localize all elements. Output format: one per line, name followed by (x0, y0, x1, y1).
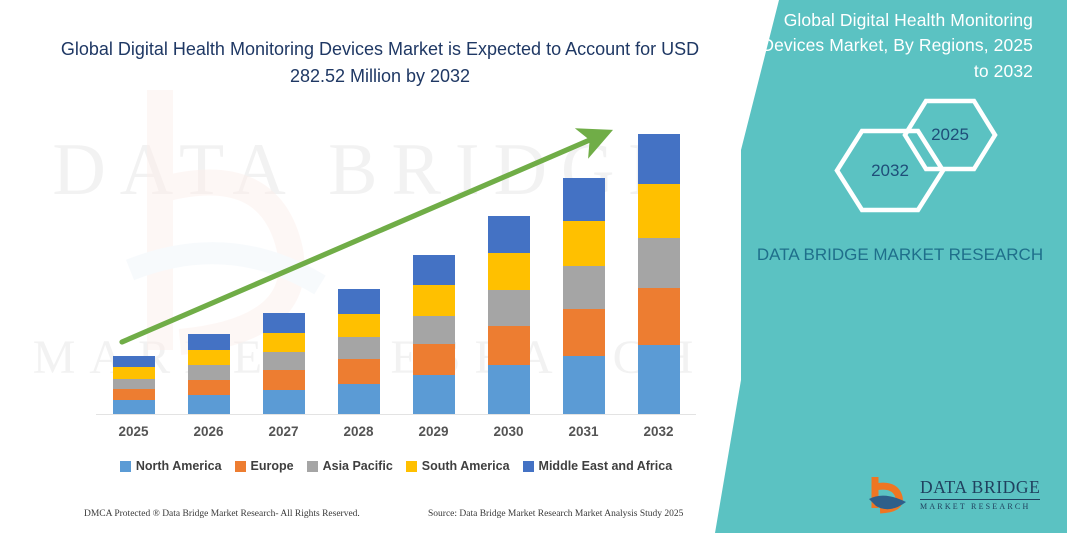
stacked-bar[interactable] (488, 216, 530, 414)
stacked-bar[interactable] (263, 313, 305, 414)
bar-segment[interactable] (563, 309, 605, 357)
logo-text: DATA BRIDGE MARKET RESEARCH (920, 479, 1040, 511)
stacked-bar[interactable] (563, 178, 605, 414)
logo-b-icon (868, 474, 912, 516)
logo-name: DATA BRIDGE (920, 479, 1040, 500)
footer-source: Source: Data Bridge Market Research Mark… (428, 509, 683, 519)
bar-segment[interactable] (188, 350, 230, 365)
stacked-bar[interactable] (188, 334, 230, 414)
page-title: Global Digital Health Monitoring Devices… (60, 36, 700, 90)
bar-segment[interactable] (263, 390, 305, 414)
chart-plot-area (96, 120, 696, 415)
bar-segment[interactable] (488, 216, 530, 253)
data-bridge-logo: DATA BRIDGE MARKET RESEARCH (868, 472, 1048, 518)
bar-segment[interactable] (488, 365, 530, 414)
bar-segment[interactable] (413, 316, 455, 344)
bar-segment[interactable] (188, 365, 230, 379)
bar-segment[interactable] (263, 352, 305, 370)
bar-segment[interactable] (188, 380, 230, 395)
bar-segment[interactable] (638, 238, 680, 289)
legend-item[interactable]: Middle East and Africa (523, 459, 673, 473)
bar-segment[interactable] (488, 326, 530, 366)
right-panel-title: Global Digital Health Monitoring Devices… (753, 8, 1033, 84)
bar-segment[interactable] (338, 337, 380, 359)
bar-segment[interactable] (113, 400, 155, 414)
x-axis-label-2032: 2032 (621, 424, 696, 444)
bar-segment[interactable] (638, 345, 680, 414)
x-axis-label-2031: 2031 (546, 424, 621, 444)
bar-column-2029[interactable] (396, 122, 471, 414)
x-axis-label-2030: 2030 (471, 424, 546, 444)
logo-b-mark-icon (868, 474, 912, 516)
legend-item[interactable]: Asia Pacific (307, 459, 393, 473)
bar-segment[interactable] (113, 356, 155, 367)
legend-swatch-icon (307, 461, 318, 472)
panel-brand-text: DATA BRIDGE MARKET RESEARCH (740, 242, 1060, 268)
hexagon-label: 2032 (871, 161, 909, 181)
bar-segment[interactable] (563, 356, 605, 414)
legend-swatch-icon (523, 461, 534, 472)
bar-segment[interactable] (338, 314, 380, 337)
footer: DMCA Protected ® Data Bridge Market Rese… (0, 506, 720, 530)
legend-label: Europe (251, 459, 294, 473)
bar-segment[interactable] (488, 290, 530, 326)
bar-segment[interactable] (638, 184, 680, 238)
x-axis-labels: 20252026202720282029203020312032 (96, 424, 696, 444)
x-axis-label-2025: 2025 (96, 424, 171, 444)
bar-segment[interactable] (413, 255, 455, 285)
stacked-bar[interactable] (638, 134, 680, 414)
bar-segment[interactable] (413, 375, 455, 414)
bar-segment[interactable] (413, 344, 455, 375)
logo-tagline: MARKET RESEARCH (920, 503, 1040, 511)
hexagon-group: 2032 2025 (826, 98, 1026, 213)
chart-legend: North AmericaEuropeAsia PacificSouth Ame… (96, 455, 696, 477)
hexagon-label: 2025 (931, 125, 969, 145)
legend-label: Middle East and Africa (539, 459, 673, 473)
x-axis-label-2029: 2029 (396, 424, 471, 444)
bar-segment[interactable] (113, 367, 155, 378)
bar-segment[interactable] (263, 313, 305, 333)
bar-column-2030[interactable] (471, 122, 546, 414)
legend-item[interactable]: North America (120, 459, 222, 473)
bar-segment[interactable] (563, 178, 605, 222)
x-axis-label-2028: 2028 (321, 424, 396, 444)
bar-segment[interactable] (413, 285, 455, 315)
bar-segment[interactable] (188, 334, 230, 350)
bar-segment[interactable] (338, 289, 380, 313)
stacked-bar[interactable] (338, 289, 380, 414)
stacked-bar[interactable] (113, 356, 155, 414)
bar-segment[interactable] (563, 266, 605, 309)
infographic-canvas: DATA BRIDGE MARKET RESEARCH Global Digit… (0, 0, 1067, 533)
legend-label: Asia Pacific (323, 459, 393, 473)
bar-segment[interactable] (563, 221, 605, 266)
legend-label: South America (422, 459, 510, 473)
x-axis-label-2027: 2027 (246, 424, 321, 444)
legend-item[interactable]: South America (406, 459, 510, 473)
bar-segment[interactable] (338, 384, 380, 414)
bar-segment[interactable] (113, 389, 155, 400)
bar-column-2027[interactable] (246, 122, 321, 414)
bar-column-2026[interactable] (171, 122, 246, 414)
bar-segment[interactable] (113, 379, 155, 389)
hexagon-year-2025: 2025 (902, 98, 998, 172)
bar-segment[interactable] (263, 370, 305, 389)
bar-segment[interactable] (638, 288, 680, 345)
legend-swatch-icon (235, 461, 246, 472)
bar-column-2031[interactable] (546, 122, 621, 414)
bar-column-2025[interactable] (96, 122, 171, 414)
x-axis-label-2026: 2026 (171, 424, 246, 444)
bar-column-2028[interactable] (321, 122, 396, 414)
stacked-bar[interactable] (413, 255, 455, 414)
x-axis-line (96, 414, 696, 415)
bar-segment[interactable] (638, 134, 680, 184)
legend-item[interactable]: Europe (235, 459, 294, 473)
legend-swatch-icon (120, 461, 131, 472)
bar-series-container (96, 122, 696, 414)
bar-segment[interactable] (263, 333, 305, 352)
bar-segment[interactable] (488, 253, 530, 291)
legend-swatch-icon (406, 461, 417, 472)
bar-column-2032[interactable] (621, 122, 696, 414)
bar-segment[interactable] (338, 359, 380, 383)
footer-copyright: DMCA Protected ® Data Bridge Market Rese… (84, 509, 360, 519)
bar-segment[interactable] (188, 395, 230, 414)
legend-label: North America (136, 459, 222, 473)
